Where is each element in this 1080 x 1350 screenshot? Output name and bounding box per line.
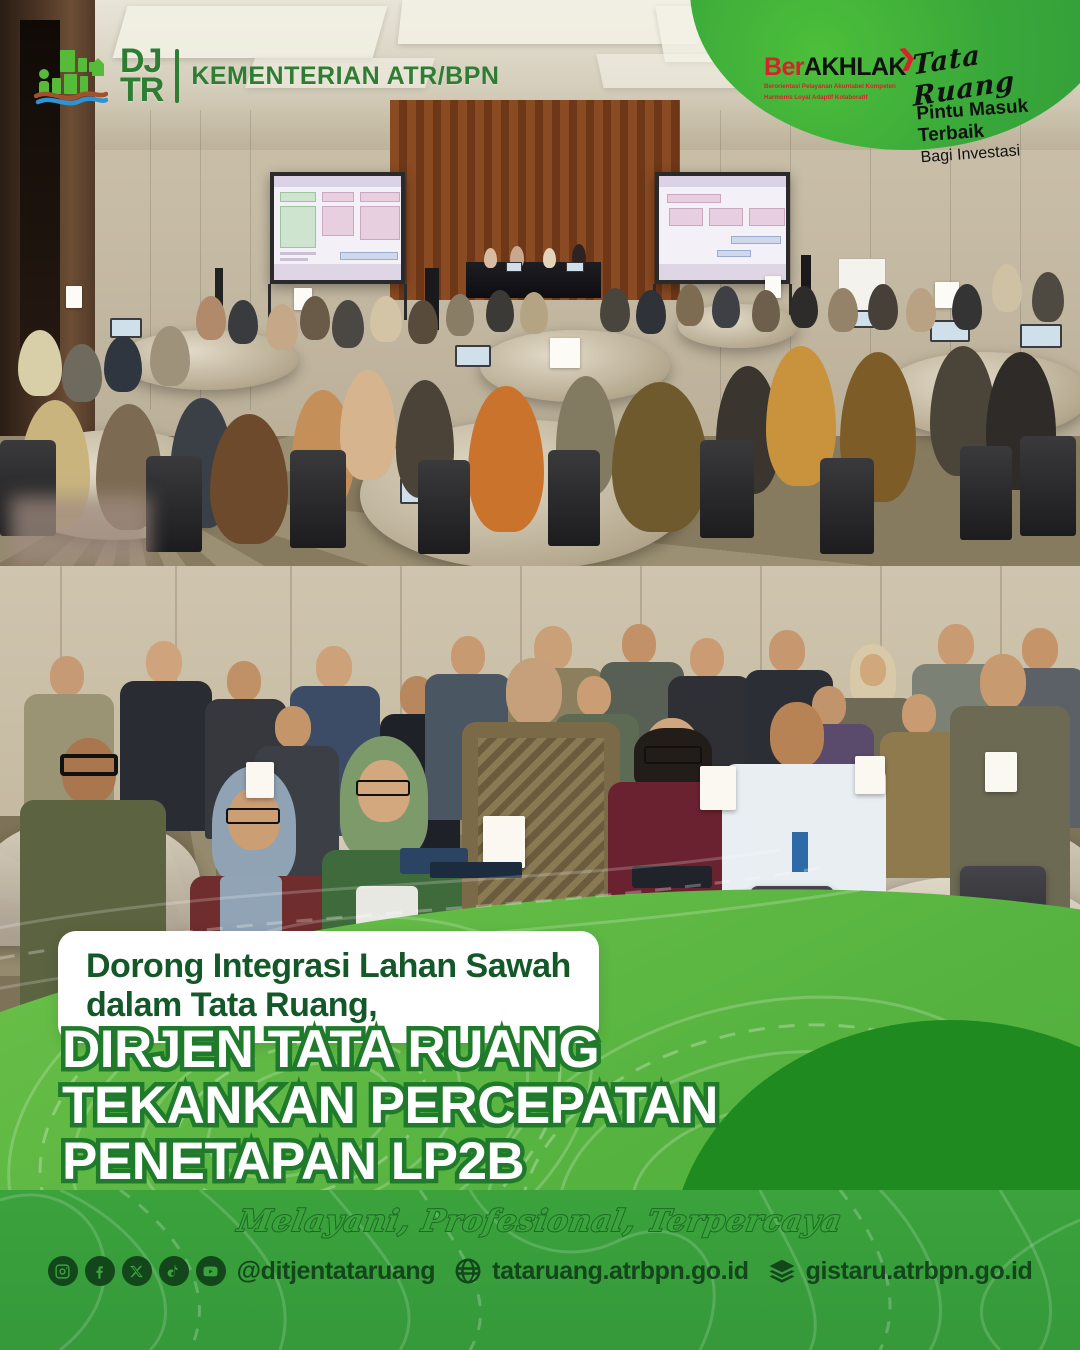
berakhlak-suffix: AKHLAK [804, 53, 906, 81]
berakhlak-logo: BerAKHLAK ❯ Berorientasi Pelayanan Akunt… [764, 55, 904, 103]
tata-ruang-tagline: Tata Ruang Pintu Masuk Terbaik Bagi Inve… [909, 30, 1080, 170]
panelist [543, 248, 556, 268]
djtr-city-river-logo-icon [34, 46, 108, 106]
tiktok-icon[interactable] [159, 1256, 189, 1286]
table-number-card [855, 756, 885, 794]
laptop [110, 318, 142, 338]
social-icons-group: @ditjentataruang [48, 1256, 436, 1286]
gis-url: gistaru.atrbpn.go.id [806, 1257, 1033, 1286]
photo-blurred-face [10, 496, 150, 566]
laptop [455, 345, 491, 367]
footer-links-row: @ditjentataruang tataruang.atrbpn.go.id … [0, 1256, 1080, 1286]
projection-screen-left [270, 172, 405, 284]
berakhlak-prefix: Ber [764, 53, 804, 81]
logo-abbrev: DJ TR [120, 47, 163, 104]
x-twitter-icon[interactable] [122, 1256, 152, 1286]
motto-text: Melayani, Profesional, Terpercaya [0, 1204, 1080, 1239]
website-link[interactable]: tataruang.atrbpn.go.id [453, 1256, 748, 1286]
brand-logo: DJ TR KEMENTERIAN ATR/BPN [34, 46, 499, 106]
logo-abbrev-line2: TR [120, 76, 163, 105]
headline-line-1: DIRJEN TATA RUANG [62, 1022, 1080, 1078]
layers-icon [767, 1256, 797, 1286]
table-number-card [246, 762, 274, 798]
social-handle[interactable]: @ditjentataruang [237, 1257, 436, 1286]
facebook-icon[interactable] [85, 1256, 115, 1286]
ministry-name: KEMENTERIAN ATR/BPN [191, 62, 499, 91]
projection-screen-right [655, 172, 790, 284]
laptop [1020, 324, 1062, 348]
berakhlak-values-line1: Berorientasi Pelayanan Akuntabel Kompete… [764, 82, 904, 91]
logo-divider [175, 49, 179, 103]
headline-line-3: PENETAPAN LP2B [62, 1134, 1080, 1190]
badge-content: BerAKHLAK ❯ Berorientasi Pelayanan Akunt… [750, 0, 1080, 160]
berakhlak-wordmark: BerAKHLAK ❯ [764, 55, 904, 80]
headline: DIRJEN TATA RUANG TEKANKAN PERCEPATAN PE… [62, 1022, 1080, 1191]
youtube-icon[interactable] [196, 1256, 226, 1286]
berakhlak-values-line2: Harmonis Loyal Adaptif Kolaboratif [764, 93, 904, 102]
poster-root: Dorong Integrasi Lahan Sawah dalam Tata … [0, 0, 1080, 1350]
table-number-card [985, 752, 1017, 792]
instagram-icon[interactable] [48, 1256, 78, 1286]
subtitle-text: Dorong Integrasi Lahan Sawah dalam Tata … [86, 947, 571, 1025]
gis-link[interactable]: gistaru.atrbpn.go.id [767, 1256, 1033, 1286]
headline-line-2: TEKANKAN PERCEPATAN [62, 1078, 1080, 1134]
globe-icon [453, 1256, 483, 1286]
table-number-card [550, 338, 580, 368]
table-number-card [66, 286, 82, 308]
panelist [484, 248, 497, 268]
table-number-card [700, 766, 736, 810]
website-url: tataruang.atrbpn.go.id [492, 1257, 748, 1286]
footer-bar: Melayani, Profesional, Terpercaya [0, 1190, 1080, 1350]
